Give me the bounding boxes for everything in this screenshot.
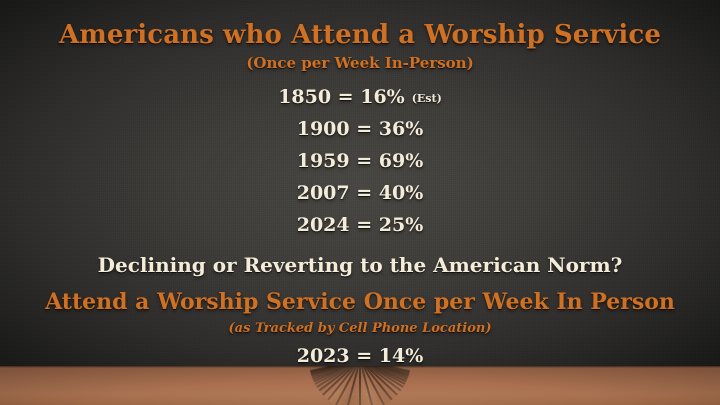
page-title: Americans who Attend a Worship Service [0, 22, 720, 49]
list-item: 1959 = 69% [0, 152, 720, 171]
stat-label: 2024 = 25% [297, 214, 424, 236]
statistics-list: 1850 = 16%(Est) 1900 = 36% 1959 = 69% 20… [0, 88, 720, 248]
page-subtitle: (Once per Week In-Person) [0, 56, 720, 72]
slide-content: Americans who Attend a Worship Service (… [0, 0, 720, 405]
stat-label: 1900 = 36% [297, 118, 424, 140]
list-item: 2007 = 40% [0, 184, 720, 203]
question-line: Declining or Reverting to the American N… [0, 255, 720, 276]
list-item: 1850 = 16%(Est) [0, 88, 720, 107]
stat-label: 2007 = 40% [297, 182, 424, 204]
stat-note: (Est) [412, 92, 442, 105]
presentation-slide: Americans who Attend a Worship Service (… [0, 0, 720, 405]
list-item: 1900 = 36% [0, 120, 720, 139]
list-item: 2024 = 25% [0, 216, 720, 235]
stat-label: 1850 = 16% [278, 86, 405, 108]
secondary-heading-subtitle: (as Tracked by Cell Phone Location) [0, 322, 720, 336]
secondary-heading: Attend a Worship Service Once per Week I… [0, 291, 720, 314]
stat-label: 1959 = 69% [297, 150, 424, 172]
final-statistic: 2023 = 14% [0, 347, 720, 366]
